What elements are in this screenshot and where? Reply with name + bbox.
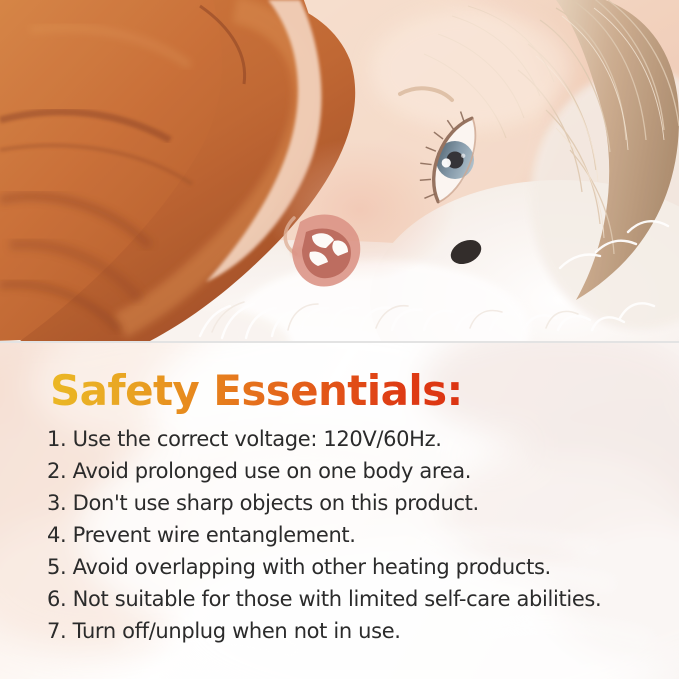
list-item: 6. Not suitable for those with limited s… <box>47 583 647 615</box>
page-title: Safety Essentials: <box>50 368 463 414</box>
product-safety-infographic: Safety Essentials: 1. Use the correct vo… <box>0 0 679 679</box>
list-item: 4. Prevent wire entanglement. <box>47 519 647 551</box>
safety-list: 1. Use the correct voltage: 120V/60Hz. 2… <box>47 423 647 647</box>
list-item: 7. Turn off/unplug when not in use. <box>47 615 647 647</box>
child-photo-illustration <box>0 0 679 341</box>
list-item: 2. Avoid prolonged use on one body area. <box>47 455 647 487</box>
list-item: 1. Use the correct voltage: 120V/60Hz. <box>47 423 647 455</box>
safety-panel: Safety Essentials: 1. Use the correct vo… <box>0 343 679 679</box>
list-item: 5. Avoid overlapping with other heating … <box>47 551 647 583</box>
list-item: 3. Don't use sharp objects on this produ… <box>47 487 647 519</box>
child-photo <box>0 0 679 341</box>
